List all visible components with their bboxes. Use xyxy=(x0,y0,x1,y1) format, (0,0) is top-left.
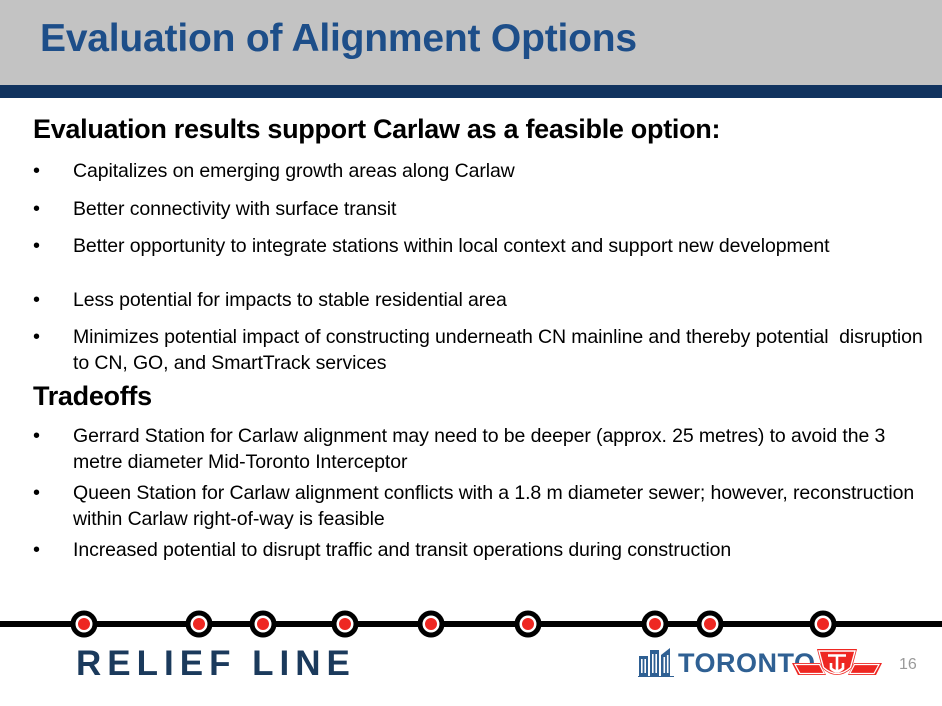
list-item: • Capitalizes on emerging growth areas a… xyxy=(33,159,923,185)
list-item-text: Increased potential to disrupt traffic a… xyxy=(73,538,923,564)
list-item-text: Better opportunity to integrate stations… xyxy=(73,234,923,260)
bullet-icon: • xyxy=(33,481,47,506)
station-marker-core xyxy=(78,618,90,630)
slide-header-band: Evaluation of Alignment Options xyxy=(0,0,942,85)
slide-content-body: Evaluation results support Carlaw as a f… xyxy=(0,98,942,595)
bullet-icon: • xyxy=(33,325,47,350)
list-item-text: Capitalizes on emerging growth areas alo… xyxy=(73,159,923,185)
station-marker-core xyxy=(649,618,661,630)
list-item: • Gerrard Station for Carlaw alignment m… xyxy=(33,424,923,475)
ttc-logo-icon xyxy=(790,643,884,689)
station-marker-core xyxy=(193,618,205,630)
slide-footer: RELIEF LINE TORONTO xyxy=(0,595,942,706)
list-item: • Better connectivity with surface trans… xyxy=(33,197,923,223)
list-item-text: Minimizes potential impact of constructi… xyxy=(73,325,923,376)
page-title: Evaluation of Alignment Options xyxy=(40,17,637,61)
bullet-icon: • xyxy=(33,234,47,259)
station-marker-core xyxy=(257,618,269,630)
list-item: • Better opportunity to integrate statio… xyxy=(33,234,923,260)
bullet-icon: • xyxy=(33,197,47,222)
station-marker-core xyxy=(817,618,829,630)
toronto-towers-icon xyxy=(638,647,674,677)
list-item-text: Gerrard Station for Carlaw alignment may… xyxy=(73,424,923,475)
bullet-icon: • xyxy=(33,424,47,449)
list-item: • Increased potential to disrupt traffic… xyxy=(33,538,923,564)
station-marker-core xyxy=(704,618,716,630)
relief-line-wordmark: RELIEF LINE xyxy=(76,644,356,684)
header-accent-rule xyxy=(0,85,942,98)
station-marker-core xyxy=(522,618,534,630)
station-marker-core xyxy=(425,618,437,630)
list-item-text: Less potential for impacts to stable res… xyxy=(73,288,923,314)
list-item: • Minimizes potential impact of construc… xyxy=(33,325,923,376)
list-item: • Less potential for impacts to stable r… xyxy=(33,288,923,314)
list-item-text: Queen Station for Carlaw alignment confl… xyxy=(73,481,923,532)
bullet-icon: • xyxy=(33,538,47,563)
page-number: 16 xyxy=(899,656,917,674)
bullet-icon: • xyxy=(33,159,47,184)
transit-line-graphic xyxy=(0,595,942,640)
bullet-icon: • xyxy=(33,288,47,313)
section-heading-evaluation-results: Evaluation results support Carlaw as a f… xyxy=(33,114,720,145)
city-of-toronto-logo: TORONTO xyxy=(638,647,816,677)
list-item-text: Better connectivity with surface transit xyxy=(73,197,923,223)
station-marker-core xyxy=(339,618,351,630)
list-item: • Queen Station for Carlaw alignment con… xyxy=(33,481,923,532)
section-heading-tradeoffs: Tradeoffs xyxy=(33,381,152,412)
